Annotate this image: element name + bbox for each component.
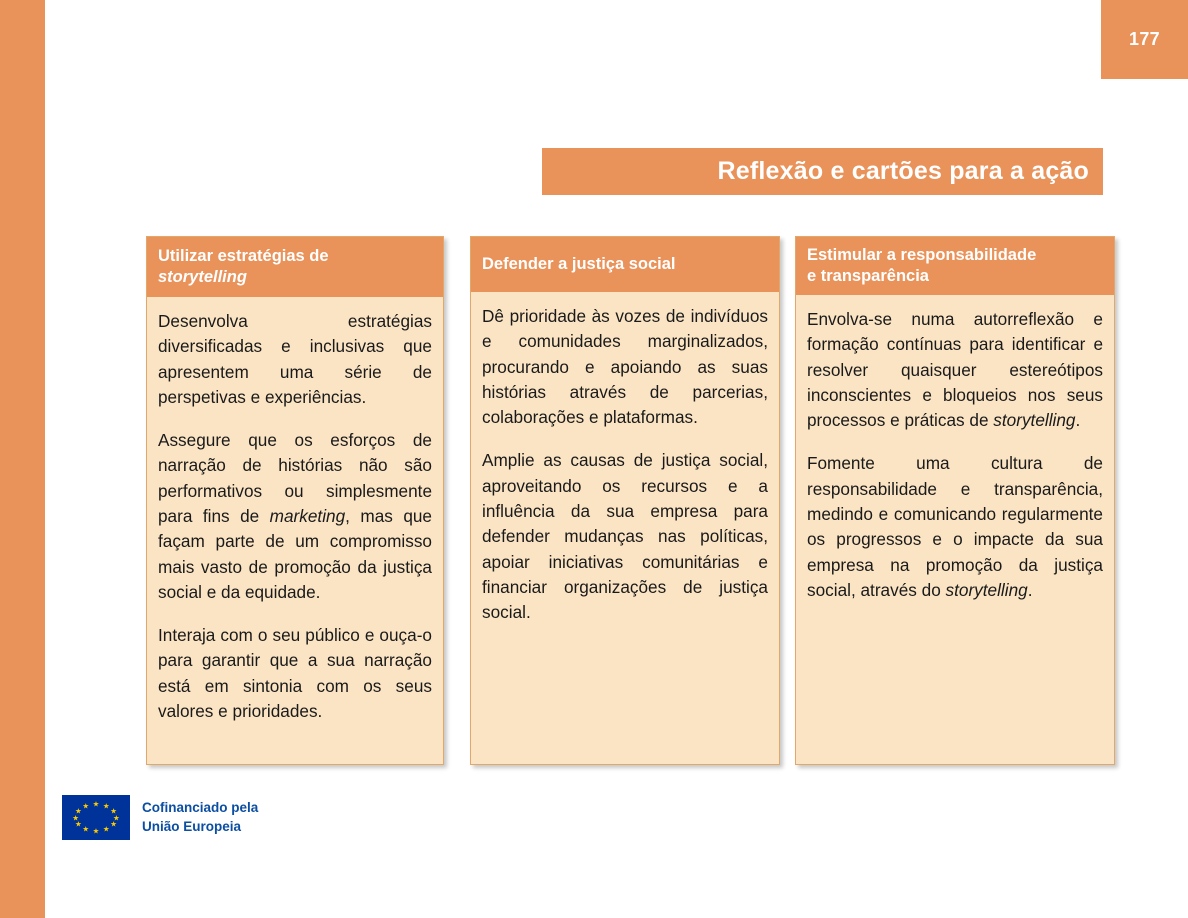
card-2-header: Defender a justiça social <box>471 237 779 292</box>
eu-logo-text: Cofinanciado pela União Europeia <box>142 799 258 835</box>
paragraph: Dê prioridade às vozes de indivíduos e c… <box>482 304 768 430</box>
eu-star-icon: ★ <box>82 825 89 833</box>
card-3-header-line-2: e transparência <box>807 266 1103 287</box>
paragraph: Desenvolva estratégias diversificadas e … <box>158 309 432 410</box>
eu-flag-icon: ★★★★★★★★★★★★ <box>62 795 130 840</box>
card-1-header-italic: storytelling <box>158 268 247 286</box>
card-1-body: Desenvolva estratégias diversificadas e … <box>147 297 443 734</box>
emphasis-term: storytelling <box>993 410 1075 430</box>
paragraph: Envolva-se numa autorreflexão e formação… <box>807 307 1103 433</box>
card-1-header-line-2: storytelling <box>158 267 432 288</box>
action-card-2: Defender a justiça social Dê prioridade … <box>470 236 780 765</box>
card-2-body: Dê prioridade às vozes de indivíduos e c… <box>471 292 779 635</box>
card-3-header-line-1: Estimular a responsabilidade <box>807 245 1103 266</box>
eu-star-icon: ★ <box>93 827 100 835</box>
emphasis-term: storytelling <box>946 580 1028 600</box>
paragraph: Interaja com o seu público e ouça-o para… <box>158 623 432 724</box>
paragraph: Assegure que os esforços de narração de … <box>158 428 432 605</box>
eu-cofunding-logo: ★★★★★★★★★★★★ Cofinanciado pela União Eur… <box>62 795 258 840</box>
eu-star-icon: ★ <box>103 802 110 810</box>
slide-title-banner: Reflexão e cartões para a ação <box>542 148 1103 195</box>
card-1-header: Utilizar estratégias de storytelling <box>147 237 443 297</box>
card-3-body: Envolva-se numa autorreflexão e formação… <box>796 295 1114 613</box>
page-number: 177 <box>1129 29 1160 50</box>
left-accent-stripe <box>0 0 45 918</box>
card-1-header-line-1: Utilizar estratégias de <box>158 246 432 267</box>
action-card-1: Utilizar estratégias de storytelling Des… <box>146 236 444 765</box>
eu-star-icon: ★ <box>75 807 82 815</box>
eu-logo-line-1: Cofinanciado pela <box>142 799 258 817</box>
eu-star-icon: ★ <box>103 825 110 833</box>
slide-canvas: 177 Reflexão e cartões para a ação Utili… <box>0 0 1188 918</box>
eu-logo-line-2: União Europeia <box>142 818 258 836</box>
emphasis-term: marketing <box>270 506 345 526</box>
action-card-3: Estimular a responsabilidade e transparê… <box>795 236 1115 765</box>
eu-star-icon: ★ <box>110 821 117 829</box>
card-2-header-line-1: Defender a justiça social <box>482 254 768 275</box>
eu-star-icon: ★ <box>93 800 100 808</box>
paragraph: Amplie as causas de justiça social, apro… <box>482 448 768 625</box>
page-title: Reflexão e cartões para a ação <box>718 157 1089 186</box>
eu-star-icon: ★ <box>82 802 89 810</box>
paragraph: Fomente uma cultura de responsabilidade … <box>807 451 1103 603</box>
page-number-badge: 177 <box>1101 0 1188 79</box>
card-3-header: Estimular a responsabilidade e transparê… <box>796 237 1114 295</box>
